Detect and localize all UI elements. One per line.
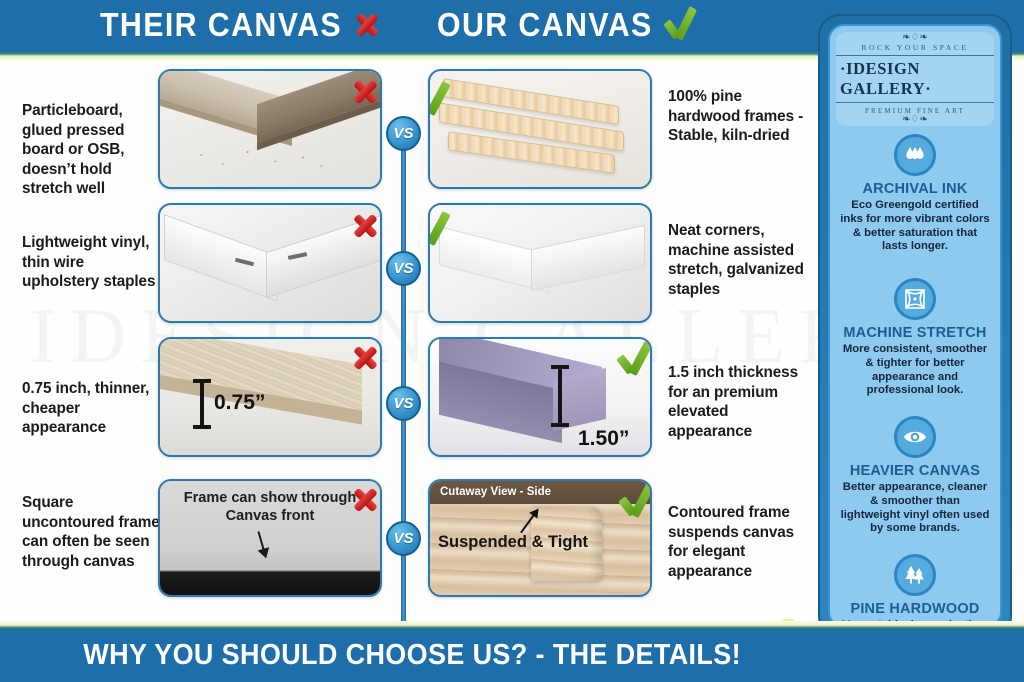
water-drops-icon [894, 134, 936, 176]
check-icon [616, 343, 648, 371]
thin-board-edge-image: 0.75” [160, 339, 380, 455]
features-sidebar: ❧♢❧ ROCK YOUR SPACE ·IDESIGN GALLERY· PR… [818, 14, 1012, 638]
logo-tagline-top: ROCK YOUR SPACE [861, 43, 968, 52]
stretched-canvas-icon [894, 278, 936, 320]
check-icon [428, 213, 446, 241]
footer-accent-strip [0, 621, 1024, 629]
feature-title: HEAVIER CANVAS [834, 463, 996, 479]
vs-badge: VS [386, 386, 421, 421]
their-row-4-label: Square uncontoured frame can often be se… [22, 493, 164, 571]
feature-description: More consistent, smoother & tighter for … [834, 343, 996, 398]
check-icon [618, 485, 650, 513]
pine-trees-icon [894, 554, 936, 596]
their-row-1-photo [158, 69, 382, 189]
check-icon [664, 8, 699, 42]
x-icon [350, 211, 376, 237]
feature-description: Better appearance, cleaner & smoother th… [834, 481, 996, 536]
feature-title: ARCHIVAL INK [834, 181, 996, 197]
particleboard-corner-image [160, 71, 380, 187]
our-row-2-label: Neat corners, machine assisted stretch, … [668, 221, 806, 299]
check-icon [428, 83, 446, 111]
vs-badge: VS [386, 251, 421, 286]
x-icon [353, 10, 381, 40]
feature-machine-stretch: MACHINE STRETCH More consistent, smoothe… [834, 278, 996, 398]
our-row-1-photo [428, 69, 652, 189]
their-row-3-label: 0.75 inch, thinner, cheaper appearance [22, 379, 164, 438]
vinyl-corner-image [160, 205, 380, 321]
x-icon [350, 77, 376, 103]
pine-frame-image [430, 71, 650, 187]
down-arrow-icon [258, 531, 267, 557]
our-row-1-label: 100% pine hardwood frames - Stable, kiln… [668, 87, 806, 146]
flat-canvas-front-image: Frame can show through Canvas front [160, 481, 380, 595]
logo-ornament-bottom: ❧♢❧ [902, 115, 928, 125]
their-row-2-label: Lightweight vinyl, thin wire upholstery … [22, 233, 164, 292]
neat-corner-image [430, 205, 650, 321]
footer-bar: WHY YOU SHOULD CHOOSE US? - THE DETAILS! [0, 629, 1024, 682]
their-row-1-label: Particleboard, glued pressed board or OS… [22, 101, 164, 199]
feature-heavier-canvas: HEAVIER CANVAS Better appearance, cleane… [834, 416, 996, 536]
cutaway-view-image: Cutaway View - Side Suspended & Tight [430, 481, 650, 595]
our-thickness-value: 1.50” [578, 427, 629, 451]
their-row-4-photo: Frame can show through Canvas front [158, 479, 382, 597]
feature-title: MACHINE STRETCH [834, 325, 996, 341]
infographic-page: THEIR CANVAS OUR CANVAS IDESIGN GALLERY … [0, 0, 1024, 682]
their-thickness-value: 0.75” [214, 391, 265, 415]
footer-headline: WHY YOU SHOULD CHOOSE US? - THE DETAILS! [83, 639, 941, 672]
cutaway-view-header: Cutaway View - Side [440, 486, 551, 498]
brand-logo: ❧♢❧ ROCK YOUR SPACE ·IDESIGN GALLERY· PR… [836, 32, 994, 126]
our-row-4-photo: Cutaway View - Side Suspended & Tight [428, 479, 652, 597]
our-row-3-photo: 1.50” [428, 337, 652, 457]
their-row-3-photo: 0.75” [158, 337, 382, 457]
our-row-4-label: Contoured frame suspends canvas for eleg… [668, 503, 806, 581]
their-canvas-heading-text: THEIR CANVAS [100, 6, 342, 44]
logo-name: ·IDESIGN GALLERY· [836, 55, 994, 103]
x-icon [350, 485, 376, 511]
feature-title: PINE HARDWOOD [834, 601, 996, 617]
their-row-4-photo-caption: Frame can show through Canvas front [160, 489, 380, 525]
x-icon [350, 343, 376, 369]
our-canvas-heading: OUR CANVAS [437, 6, 699, 44]
vs-badge: VS [386, 521, 421, 556]
logo-ornament-top: ❧♢❧ [902, 33, 928, 43]
feature-archival-ink: ARCHIVAL INK Eco Greengold certified ink… [834, 134, 996, 254]
our-row-3-label: 1.5 inch thickness for an premium elevat… [668, 363, 806, 441]
our-row-2-photo [428, 203, 652, 323]
features-sidebar-inner: ❧♢❧ ROCK YOUR SPACE ·IDESIGN GALLERY· PR… [828, 24, 1002, 628]
our-canvas-heading-text: OUR CANVAS [437, 6, 653, 44]
eye-icon [894, 416, 936, 458]
feature-pine-hardwood: PINE HARDWOOD More stable, longer-lastin… [834, 554, 996, 628]
vs-badge: VS [386, 116, 421, 151]
feature-description: Eco Greengold certified inks for more vi… [834, 199, 996, 254]
their-row-2-photo [158, 203, 382, 323]
cutaway-view-caption: Suspended & Tight [438, 533, 588, 552]
their-canvas-heading: THEIR CANVAS [100, 6, 381, 44]
